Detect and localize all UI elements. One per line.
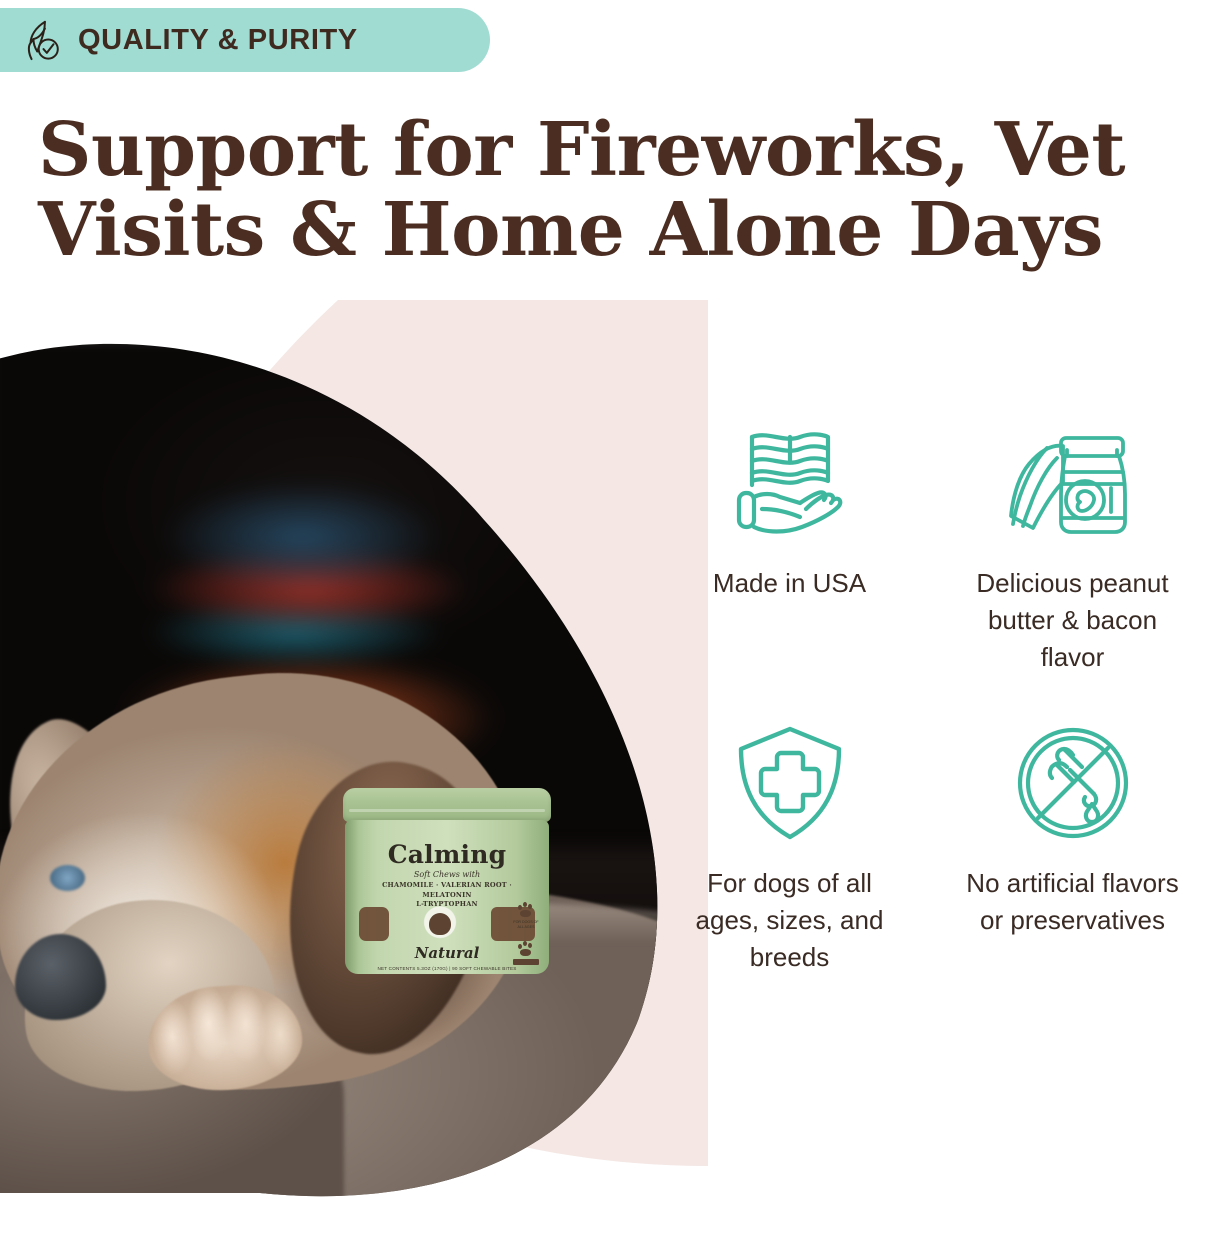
peanut-butter-jar-bacon-icon [1007,400,1139,565]
jar-side-badge-usa [513,941,539,965]
jar-seal-left [359,907,389,941]
shield-small-icon [517,941,535,957]
quality-purity-banner: QUALITY & PURITY [0,8,490,72]
benefit-all-dogs: For dogs of all ages, sizes, and breeds [648,700,931,1000]
benefit-peanut-butter-bacon: Delicious peanut butter & bacon flavor [931,400,1214,700]
hand-holding-usa-flag-icon [726,400,854,565]
jar-side-badge-ages: FOR DOGS OF ALL AGES [511,902,541,929]
benefit-caption: No artificial flavors or preservatives [955,865,1190,939]
headline-line-2: Visits & Home Alone Days [38,188,1210,272]
benefits-grid: Made in USA Del [648,400,1214,1040]
jar-side-badges: FOR DOGS OF ALL AGES [511,902,541,965]
benefit-caption: Made in USA [713,565,866,602]
benefit-made-in-usa: Made in USA [648,400,931,700]
jar-seal-row [359,906,535,942]
leaf-check-icon [22,17,64,63]
jar-subtitle: Soft Chews with [345,870,549,879]
no-dropper-icon [1012,700,1134,865]
product-jar: Calming Soft Chews with CHAMOMILE · VALE… [343,788,551,974]
photo-dog-eye [50,865,85,891]
page-title: Support for Fireworks, Vet Visits & Home… [38,108,1210,273]
jar-body: Calming Soft Chews with CHAMOMILE · VALE… [345,820,549,974]
jar-title: Calming [345,840,549,869]
hero-photo [0,330,680,1193]
paw-icon [517,902,535,918]
jar-lid [343,788,551,822]
headline-line-1: Support for Fireworks, Vet [38,108,1210,192]
jar-fine-print: NET CONTENTS 5.3OZ (170G) | 90 SOFT CHEW… [345,966,549,971]
jar-dog-logo [420,906,460,942]
banner-label: QUALITY & PURITY [78,24,358,57]
benefit-caption: For dogs of all ages, sizes, and breeds [672,865,907,976]
benefit-caption: Delicious peanut butter & bacon flavor [955,565,1190,676]
jar-side-badge-band [513,959,539,965]
benefit-no-artificial: No artificial flavors or preservatives [931,700,1214,1000]
shield-medical-cross-icon [731,700,849,865]
